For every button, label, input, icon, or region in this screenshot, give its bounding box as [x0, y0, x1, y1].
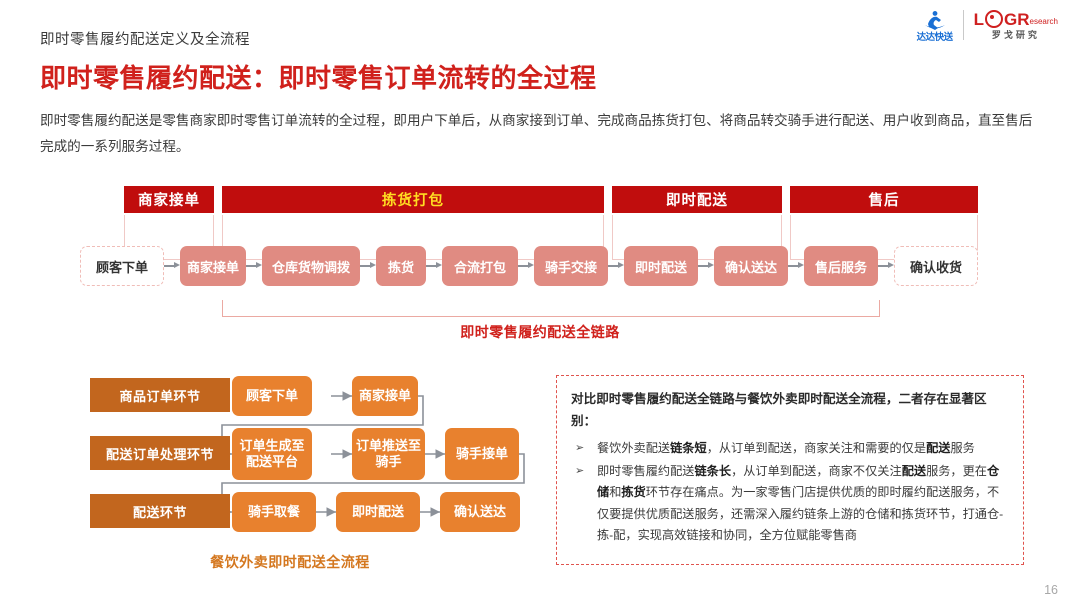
- chain-arrow-icon-9: [878, 261, 894, 271]
- takeout-stage-2: 配送订单处理环节: [90, 436, 230, 470]
- takeout-stage-3: 配送环节: [90, 494, 230, 528]
- chain-arrow-icon-4: [426, 261, 442, 271]
- slide-root: 达达快送 L GR esearch 罗戈研究 即时零售履约配送定义及全流程 即时…: [0, 0, 1080, 607]
- takeout-node-r2-1: 订单生成至配送平台: [232, 428, 312, 480]
- note-item-2: ➢即时零售履约配送链条长，从订单到配送，商家不仅关注配送服务，更在仓储和拣货环节…: [571, 461, 1007, 547]
- page-title: 即时零售履约配送：即时零售订单流转的全过程: [40, 58, 597, 95]
- chain-arrow-icon-5: [518, 261, 534, 271]
- logr-letter-l: L: [974, 11, 984, 28]
- phase-header-2: 拣货打包: [222, 186, 604, 213]
- note-item-text-2: 即时零售履约配送链条长，从订单到配送，商家不仅关注配送服务，更在仓储和拣货环节存…: [597, 461, 1007, 547]
- chain-node-10: 确认收货: [894, 246, 978, 286]
- takeout-caption: 餐饮外卖即时配送全流程: [90, 552, 490, 572]
- note-list: ➢餐饮外卖配送链条短，从订单到配送，商家关注和需要的仅是配送服务➢即时零售履约配…: [571, 438, 1007, 547]
- slide-kicker: 即时零售履约配送定义及全流程: [40, 28, 250, 49]
- takeout-node-r1-2: 商家接单: [352, 376, 418, 416]
- note-bullet-icon-1: ➢: [571, 438, 597, 460]
- logr-chinese-name: 罗戈研究: [992, 31, 1040, 40]
- chain-node-2: 商家接单: [180, 246, 246, 286]
- note-title: 对比即时零售履约配送全链路与餐饮外卖即时配送全流程，二者存在显著区别：: [571, 388, 1007, 432]
- logr-target-icon: [985, 10, 1003, 28]
- takeout-node-r3-3: 确认送达: [440, 492, 520, 532]
- chain-caption: 即时零售履约配送全链路: [0, 322, 1080, 342]
- chain-node-6: 骑手交接: [534, 246, 608, 286]
- chain-arrow-icon-8: [788, 261, 804, 271]
- chain-arrow-icon-1: [164, 261, 180, 271]
- logr-letters-gr: GR: [1004, 11, 1030, 28]
- note-item-1: ➢餐饮外卖配送链条短，从订单到配送，商家关注和需要的仅是配送服务: [571, 438, 1007, 460]
- dada-logo: 达达快送: [917, 8, 953, 43]
- logr-wordmark: L GR esearch: [974, 10, 1058, 28]
- chain-node-9: 售后服务: [804, 246, 878, 286]
- takeout-node-r1-1: 顾客下单: [232, 376, 312, 416]
- chain-node-3: 仓库货物调拨: [262, 246, 360, 286]
- comparison-note-panel: 对比即时零售履约配送全链路与餐饮外卖即时配送全流程，二者存在显著区别： ➢餐饮外…: [556, 375, 1024, 565]
- chain-node-8: 确认送达: [714, 246, 788, 286]
- chain-arrow-icon-7: [698, 261, 714, 271]
- brand-logo-area: 达达快送 L GR esearch 罗戈研究: [917, 8, 1058, 43]
- fulfillment-chain: 顾客下单商家接单仓库货物调拨拣货合流打包骑手交接即时配送确认送达售后服务确认收货: [80, 246, 978, 286]
- note-bullet-icon-2: ➢: [571, 461, 597, 547]
- chain-node-7: 即时配送: [624, 246, 698, 286]
- takeout-node-r2-3: 骑手接单: [445, 428, 519, 480]
- chain-node-4: 拣货: [376, 246, 426, 286]
- note-item-text-1: 餐饮外卖配送链条短，从订单到配送，商家关注和需要的仅是配送服务: [597, 438, 1007, 460]
- takeout-node-r3-1: 骑手取餐: [232, 492, 316, 532]
- logo-divider: [963, 10, 964, 40]
- dada-logo-text: 达达快送: [917, 33, 953, 43]
- logr-logo: L GR esearch 罗戈研究: [974, 10, 1058, 40]
- chain-arrow-icon-6: [608, 261, 624, 271]
- phase-header-3: 即时配送: [612, 186, 782, 213]
- page-number: 16: [1044, 583, 1058, 597]
- slide-lede-paragraph: 即时零售履约配送是零售商家即时零售订单流转的全过程，即用户下单后，从商家接到订单…: [40, 108, 1040, 160]
- takeout-stage-1: 商品订单环节: [90, 378, 230, 412]
- chain-arrow-icon-2: [246, 261, 262, 271]
- phase-header-1: 商家接单: [124, 186, 214, 213]
- chain-bracket: [222, 300, 880, 317]
- chain-node-5: 合流打包: [442, 246, 518, 286]
- dada-runner-icon: [922, 8, 948, 32]
- chain-node-1: 顾客下单: [80, 246, 164, 286]
- chain-arrow-icon-3: [360, 261, 376, 271]
- takeout-node-r2-2: 订单推送至骑手: [352, 428, 425, 480]
- logr-research-text: esearch: [1030, 18, 1058, 26]
- phase-header-4: 售后: [790, 186, 978, 213]
- takeout-node-r3-2: 即时配送: [336, 492, 420, 532]
